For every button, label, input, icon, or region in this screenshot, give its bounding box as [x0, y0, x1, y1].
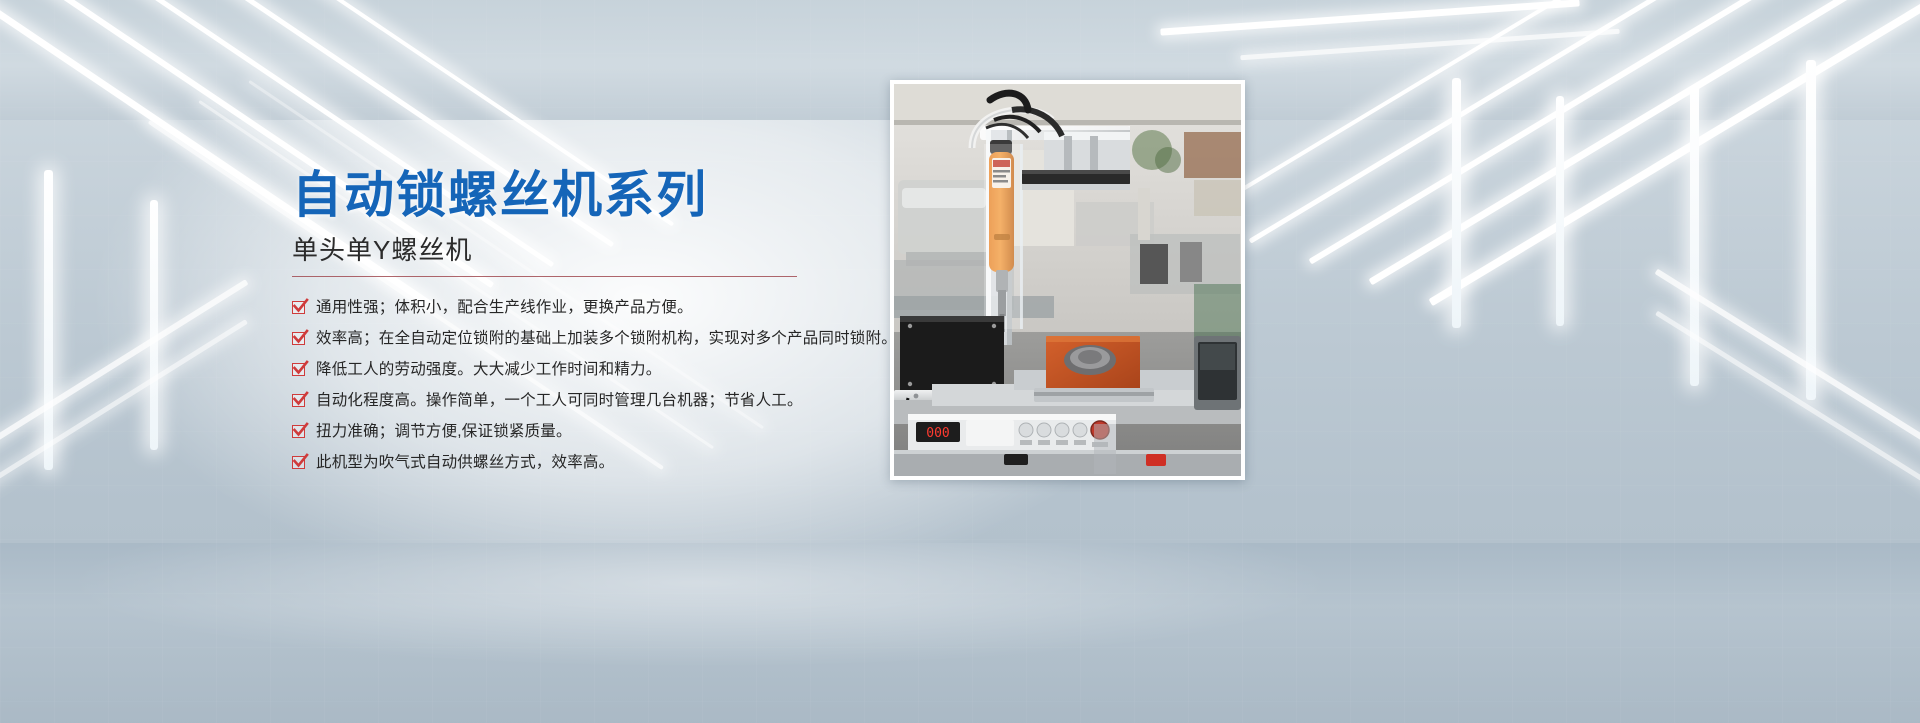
feature-text: 通用性强；体积小，配合生产线作业，更换产品方便。: [316, 292, 693, 323]
list-item: 自动化程度高。操作简单，一个工人可同时管理几台机器；节省人工。: [292, 385, 892, 416]
check-box-icon: [292, 425, 305, 438]
panel-display-value: 000: [926, 426, 949, 441]
list-item: 扭力准确；调节方便,保证锁紧质量。: [292, 416, 892, 447]
feature-text: 此机型为吹气式自动供螺丝方式，效率高。: [316, 447, 614, 478]
check-box-icon: [292, 363, 305, 376]
feature-text: 扭力准确；调节方便,保证锁紧质量。: [316, 416, 572, 447]
feature-text: 效率高；在全自动定位锁附的基础上加装多个锁附机构，实现对多个产品同时锁附。: [316, 323, 897, 354]
list-item: 此机型为吹气式自动供螺丝方式，效率高。: [292, 447, 892, 478]
check-box-icon: [292, 301, 305, 314]
product-photo: 000: [890, 80, 1245, 480]
list-item: 降低工人的劳动强度。大大减少工作时间和精力。: [292, 354, 892, 385]
list-item: 通用性强；体积小，配合生产线作业，更换产品方便。: [292, 292, 892, 323]
product-photo-image: 000: [894, 84, 1241, 476]
feature-text: 降低工人的劳动强度。大大减少工作时间和精力。: [316, 354, 661, 385]
screw-machine-photo-illustration: 000: [894, 84, 1241, 476]
title-divider: [292, 276, 797, 277]
check-box-icon: [292, 456, 305, 469]
product-banner: 自动锁螺丝机系列 单头单Y螺丝机 通用性强；体积小，配合生产线作业，更换产品方便…: [0, 0, 1920, 723]
check-box-icon: [292, 394, 305, 407]
page-title: 自动锁螺丝机系列: [292, 170, 708, 220]
feature-list: 通用性强；体积小，配合生产线作业，更换产品方便。 效率高；在全自动定位锁附的基础…: [292, 292, 892, 478]
page-subtitle: 单头单Y螺丝机: [292, 237, 472, 263]
check-box-icon: [292, 332, 305, 345]
banner-content: 自动锁螺丝机系列 单头单Y螺丝机 通用性强；体积小，配合生产线作业，更换产品方便…: [0, 0, 1920, 723]
list-item: 效率高；在全自动定位锁附的基础上加装多个锁附机构，实现对多个产品同时锁附。: [292, 323, 892, 354]
feature-text: 自动化程度高。操作简单，一个工人可同时管理几台机器；节省人工。: [316, 385, 803, 416]
